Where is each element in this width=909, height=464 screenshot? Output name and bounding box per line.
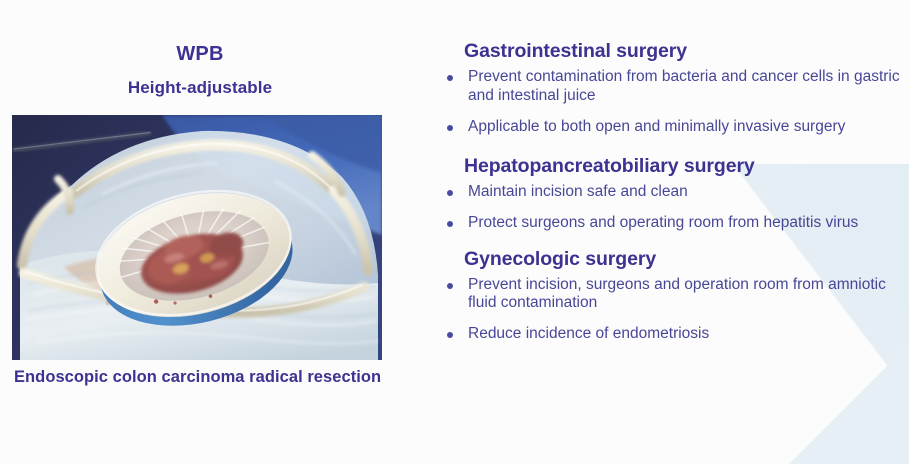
corner-accent-triangle <box>789 344 909 464</box>
list-item-text: Prevent contamination from bacteria and … <box>468 68 900 104</box>
surgical-photo-image <box>12 115 382 360</box>
presentation-slide: WPB Height-adjustable <box>0 0 909 464</box>
list-item: Applicable to both open and minimally in… <box>440 118 900 137</box>
list-item: Protect surgeons and operating room from… <box>440 214 900 233</box>
photo-caption: Endoscopic colon carcinoma radical resec… <box>14 368 414 387</box>
section-hepatopancreatobiliary-surgery: Hepatopancreatobiliary surgery Maintain … <box>440 155 900 233</box>
right-column: Gastrointestinal surgery Prevent contami… <box>440 40 900 346</box>
list-item-text: Prevent incision, surgeons and operation… <box>468 276 886 312</box>
list-item-text: Reduce incidence of endometriosis <box>468 325 709 342</box>
product-title: WPB <box>0 43 400 66</box>
list-item: Prevent incision, surgeons and operation… <box>440 276 900 314</box>
bullet-dot-icon <box>447 125 453 131</box>
section-gastrointestinal-surgery: Gastrointestinal surgery Prevent contami… <box>440 40 900 137</box>
bullet-dot-icon <box>447 332 453 338</box>
list-item: Reduce incidence of endometriosis <box>440 325 900 344</box>
section-heading: Gynecologic surgery <box>464 248 900 271</box>
bullet-dot-icon <box>447 190 453 196</box>
bullet-list: Prevent contamination from bacteria and … <box>440 68 900 137</box>
product-subtitle: Height-adjustable <box>0 78 400 98</box>
list-item: Prevent contamination from bacteria and … <box>440 68 900 106</box>
list-item-text: Protect surgeons and operating room from… <box>468 214 858 231</box>
bullet-dot-icon <box>447 283 453 289</box>
list-item-text: Applicable to both open and minimally in… <box>468 118 845 135</box>
section-heading: Gastrointestinal surgery <box>464 40 900 63</box>
list-item: Maintain incision safe and clean <box>440 183 900 202</box>
bullet-list: Maintain incision safe and clean Protect… <box>440 183 900 233</box>
list-item-text: Maintain incision safe and clean <box>468 183 688 200</box>
surgical-photo <box>12 115 382 360</box>
section-heading: Hepatopancreatobiliary surgery <box>464 155 900 178</box>
left-column: WPB Height-adjustable <box>0 0 430 464</box>
section-gynecologic-surgery: Gynecologic surgery Prevent incision, su… <box>440 248 900 345</box>
bullet-dot-icon <box>447 75 453 81</box>
bullet-dot-icon <box>447 221 453 227</box>
bullet-list: Prevent incision, surgeons and operation… <box>440 276 900 345</box>
